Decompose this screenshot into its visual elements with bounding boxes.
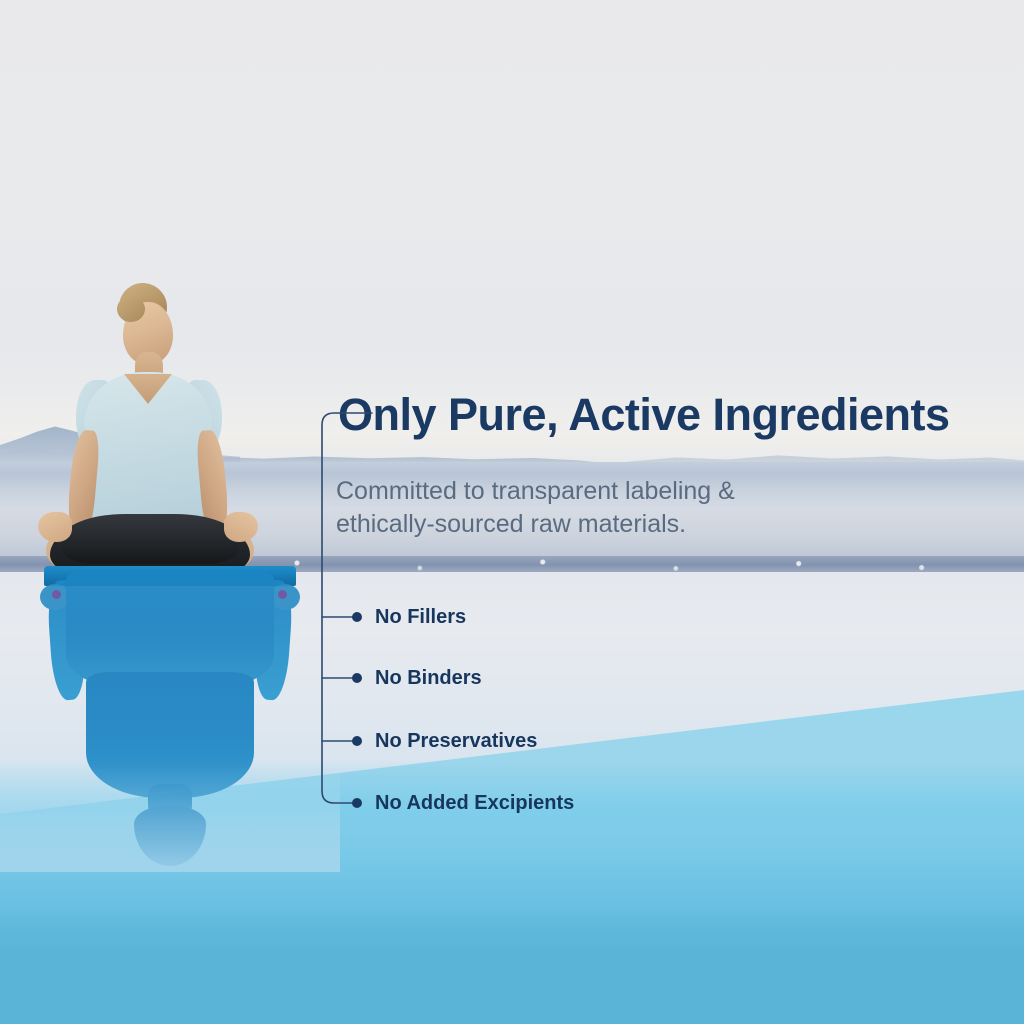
- list-item-no-added-excipients: No Added Excipients: [375, 793, 574, 813]
- promo-graphic: Only Pure, Active Ingredients Committed …: [0, 0, 1024, 1024]
- text-overlay: Only Pure, Active Ingredients Committed …: [0, 0, 1024, 1024]
- benefit-list: No Fillers No Binders No Preservatives N…: [0, 0, 1024, 1024]
- list-item-no-preservatives: No Preservatives: [375, 731, 537, 751]
- list-item-no-binders: No Binders: [375, 668, 482, 688]
- list-item-no-fillers: No Fillers: [375, 607, 466, 627]
